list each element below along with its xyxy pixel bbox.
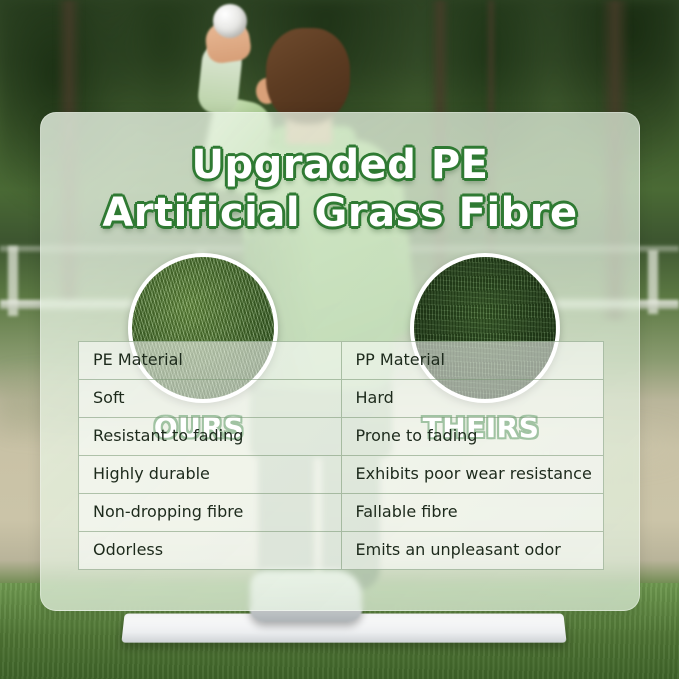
cell-theirs: Emits an unpleasant odor bbox=[342, 532, 604, 569]
comparison-card: Upgraded PE Artificial Grass Fibre OURS … bbox=[40, 112, 640, 611]
cell-theirs: Hard bbox=[342, 380, 604, 417]
cell-ours: PE Material bbox=[79, 342, 342, 379]
table-row: Non-dropping fibre Fallable fibre bbox=[79, 494, 603, 532]
table-row: Resistant to fading Prone to fading bbox=[79, 418, 603, 456]
cell-ours: Non-dropping fibre bbox=[79, 494, 342, 531]
page-title: Upgraded PE Artificial Grass Fibre bbox=[41, 141, 639, 237]
table-row: Highly durable Exhibits poor wear resist… bbox=[79, 456, 603, 494]
cell-ours: Odorless bbox=[79, 532, 342, 569]
headline-line-2: Artificial Grass Fibre bbox=[41, 189, 639, 237]
cell-theirs: PP Material bbox=[342, 342, 604, 379]
cell-ours: Highly durable bbox=[79, 456, 342, 493]
cell-theirs: Fallable fibre bbox=[342, 494, 604, 531]
cell-theirs: Prone to fading bbox=[342, 418, 604, 455]
cell-ours: Soft bbox=[79, 380, 342, 417]
table-row: Soft Hard bbox=[79, 380, 603, 418]
table-row: Odorless Emits an unpleasant odor bbox=[79, 532, 603, 570]
table-row: PE Material PP Material bbox=[79, 342, 603, 380]
cell-ours: Resistant to fading bbox=[79, 418, 342, 455]
product-comparison-image: Upgraded PE Artificial Grass Fibre OURS … bbox=[0, 0, 679, 679]
headline-line-1: Upgraded PE bbox=[192, 142, 489, 188]
baseball bbox=[213, 4, 247, 38]
cell-theirs: Exhibits poor wear resistance bbox=[342, 456, 604, 493]
comparison-table: PE Material PP Material Soft Hard Resist… bbox=[78, 341, 604, 570]
boy-head bbox=[266, 28, 350, 124]
